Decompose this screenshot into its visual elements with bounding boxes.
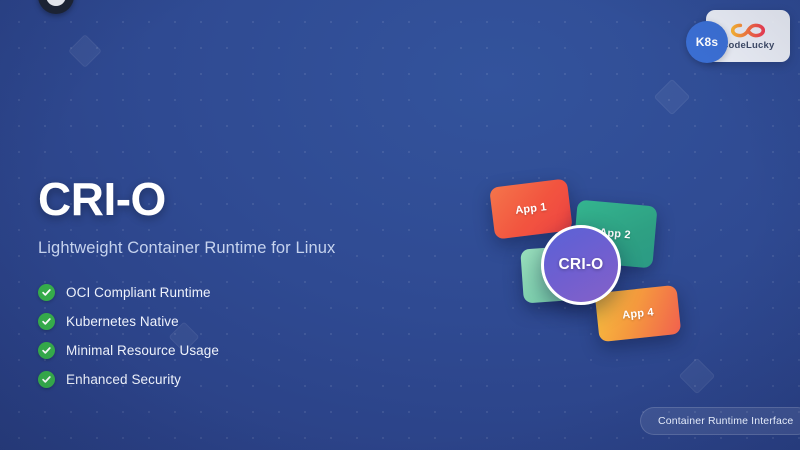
top-left-orb-icon xyxy=(38,0,74,14)
feature-label: Kubernetes Native xyxy=(66,314,179,329)
k8s-badge: K8s xyxy=(686,21,728,63)
slide-canvas: CodeLucky K8s CRI-O Lightweight Containe… xyxy=(0,0,800,450)
brand-name: CodeLucky xyxy=(721,40,774,51)
hub-label: CRI-O xyxy=(559,256,604,274)
feature-label: Enhanced Security xyxy=(66,372,181,387)
page-subtitle: Lightweight Container Runtime for Linux xyxy=(38,239,458,258)
slide-content: CRI-O Lightweight Container Runtime for … xyxy=(38,176,458,398)
feature-list: OCI Compliant Runtime Kubernetes Native … xyxy=(38,282,458,389)
list-item: Enhanced Security xyxy=(38,369,458,389)
check-circle-icon xyxy=(38,313,55,330)
check-circle-icon xyxy=(38,284,55,301)
architecture-diagram: App 1 App 2 App 3 App 4 CRI-O xyxy=(470,165,720,365)
decorative-diamond xyxy=(654,79,691,116)
infinity-logo-icon xyxy=(731,22,765,39)
check-circle-icon xyxy=(38,342,55,359)
feature-label: Minimal Resource Usage xyxy=(66,343,219,358)
list-item: OCI Compliant Runtime xyxy=(38,282,458,302)
check-circle-icon xyxy=(38,371,55,388)
orb-inner-glyph xyxy=(46,0,66,6)
list-item: Minimal Resource Usage xyxy=(38,340,458,360)
page-title: CRI-O xyxy=(38,176,458,222)
feature-label: OCI Compliant Runtime xyxy=(66,285,211,300)
status-badge: Container Runtime Interface xyxy=(640,407,800,435)
decorative-diamond xyxy=(68,34,102,68)
list-item: Kubernetes Native xyxy=(38,311,458,331)
crio-hub-node: CRI-O xyxy=(541,225,621,305)
